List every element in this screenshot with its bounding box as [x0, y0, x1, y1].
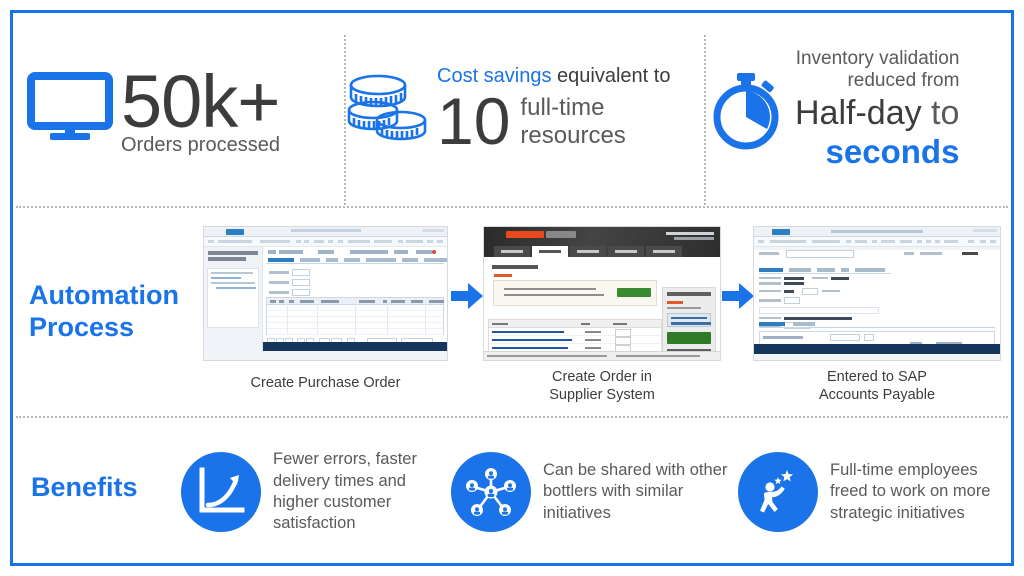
automation-process-band: Automation Process: [13, 212, 1011, 412]
stopwatch-icon: [705, 67, 787, 158]
stat-value: 10: [437, 90, 510, 153]
cost-savings-rest: equivalent to: [552, 65, 671, 87]
monitor-icon: [27, 72, 113, 147]
growth-chart-icon: [181, 452, 261, 532]
stat-inventory-validation: Inventory validation reduced from Half-d…: [705, 13, 1011, 205]
stat-words-line2: resources: [520, 122, 625, 149]
process-label-line1: Automation: [29, 280, 209, 312]
seconds-highlight: seconds: [826, 134, 960, 170]
benefit-item-2: Can be shared with other bottlers with s…: [451, 434, 746, 550]
benefit-text-1: Fewer errors, faster delivery times and …: [273, 449, 451, 535]
coins-icon: [345, 68, 431, 155]
stat-caption: Orders processed: [121, 134, 280, 156]
benefits-section-label: Benefits: [31, 472, 201, 503]
step-caption-3: Entered to SAP Accounts Payable: [749, 369, 1005, 404]
arrow-right-icon: [450, 282, 484, 310]
stat-line-1: Inventory validation: [796, 48, 960, 70]
half-day-text: Half-day: [795, 94, 922, 132]
step-caption-2: Create Order in Supplier System: [473, 369, 731, 404]
step-caption-3-line1: Entered to SAP: [749, 369, 1005, 387]
stats-band: 50k+ Orders processed: [13, 13, 1011, 205]
screenshot-supplier-ordering-portal[interactable]: [483, 226, 721, 361]
stat-words-line1: full-time: [520, 94, 625, 121]
process-label-line2: Process: [29, 312, 209, 344]
stat-value: 50k+: [121, 68, 280, 136]
benefit-item-3: Full-time employees freed to work on mor…: [738, 434, 1010, 550]
step-caption-2-line1: Create Order in: [473, 369, 731, 387]
benefit-text-3: Full-time employees freed to work on mor…: [830, 460, 1010, 524]
divider-process-benefits: [16, 416, 1008, 418]
screenshot-create-purchase-order[interactable]: [203, 226, 448, 361]
person-reaching-stars-icon: [738, 452, 818, 532]
infographic-slide: 50k+ Orders processed: [0, 0, 1024, 576]
stat-cost-savings: Cost savings equivalent to 10 full-time …: [345, 13, 701, 205]
step-caption-1: Create Purchase Order: [203, 375, 448, 393]
screenshot-sap-accounts-payable[interactable]: [753, 226, 1001, 361]
half-day-rest: to: [922, 94, 960, 132]
benefit-item-1: Fewer errors, faster delivery times and …: [181, 434, 451, 550]
divider-stats-process: [16, 206, 1008, 208]
network-share-icon: [451, 452, 531, 532]
arrow-right-icon: [721, 282, 755, 310]
benefits-band: Benefits Fewer errors, faster delivery t…: [13, 420, 1011, 563]
process-section-label: Automation Process: [29, 280, 209, 344]
stat-line-3: Half-day to: [795, 94, 959, 133]
step-caption-2-line2: Supplier System: [473, 387, 731, 405]
stat-orders-processed: 50k+ Orders processed: [27, 13, 341, 205]
stat-line-2: reduced from: [847, 70, 959, 92]
benefit-text-2: Can be shared with other bottlers with s…: [543, 460, 746, 524]
step-caption-3-line2: Accounts Payable: [749, 387, 1005, 405]
